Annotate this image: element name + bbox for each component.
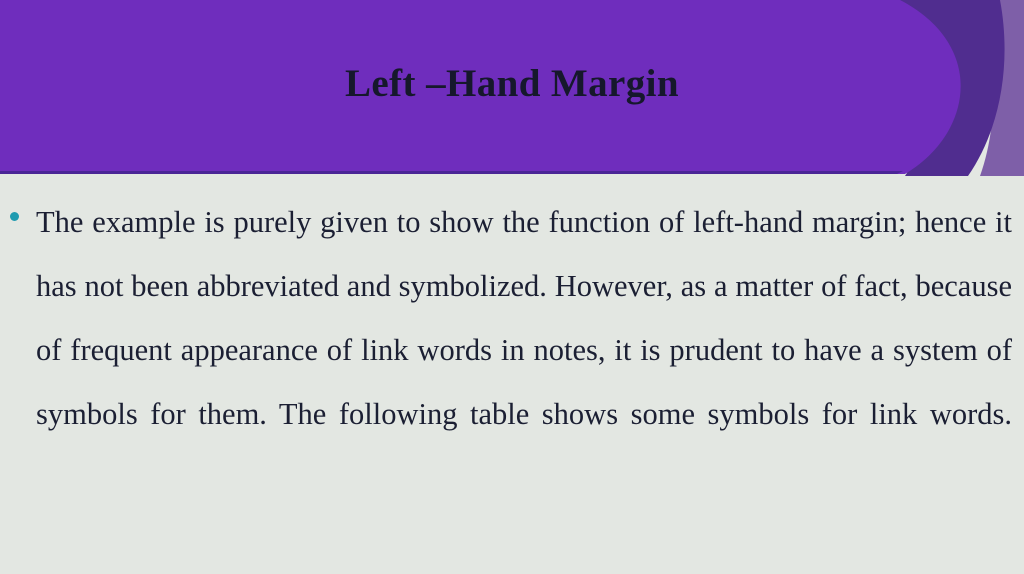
body-container: The example is purely given to show the … — [0, 190, 1024, 510]
banner-main-shape — [0, 0, 961, 174]
bullet-list-item: The example is purely given to show the … — [36, 190, 1012, 510]
banner-decoration — [0, 0, 1024, 176]
bullet-dot-icon — [10, 212, 19, 221]
body-paragraph: The example is purely given to show the … — [36, 190, 1012, 510]
banner-bottom-edge-line — [0, 171, 903, 174]
slide-canvas: Left –Hand Margin The example is purely … — [0, 0, 1024, 574]
